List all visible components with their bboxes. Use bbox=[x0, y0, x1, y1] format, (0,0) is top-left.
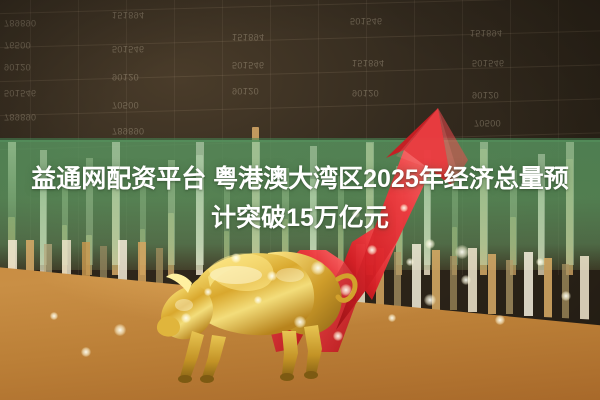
bokeh-dot bbox=[461, 275, 471, 285]
bokeh-dot bbox=[424, 294, 436, 306]
headline-line-1: 益通网配资平台 粤港澳大湾区2025年经济总量预 bbox=[31, 165, 569, 193]
news-banner-image: 7898907650090120501546789890151894501546… bbox=[0, 0, 600, 400]
bokeh-dot bbox=[50, 312, 58, 320]
golden-bull-statue bbox=[150, 235, 360, 385]
bokeh-dot bbox=[114, 324, 126, 336]
bokeh-dot bbox=[406, 258, 414, 266]
bokeh-dot bbox=[455, 245, 469, 259]
headline: 益通网配资平台 粤港澳大湾区2025年经济总量预 计突破15万亿元 bbox=[0, 160, 600, 238]
bokeh-dot bbox=[495, 315, 505, 325]
bokeh-dot bbox=[204, 288, 212, 296]
bokeh-dot bbox=[81, 347, 91, 357]
bokeh-dot bbox=[254, 296, 262, 304]
bokeh-dot bbox=[561, 291, 571, 301]
bokeh-dot bbox=[367, 245, 377, 255]
bokeh-dot bbox=[425, 239, 435, 249]
bokeh-dot bbox=[311, 261, 325, 275]
bokeh-dot bbox=[294, 316, 306, 328]
bokeh-dot bbox=[340, 284, 352, 296]
bokeh-dot bbox=[267, 271, 277, 281]
bokeh-dot bbox=[181, 313, 191, 323]
headline-line-2: 计突破15万亿元 bbox=[0, 199, 600, 238]
bokeh-dot bbox=[388, 314, 396, 322]
bokeh-dot bbox=[333, 331, 343, 341]
bokeh-dot bbox=[536, 258, 544, 266]
bokeh-dot bbox=[231, 253, 241, 263]
